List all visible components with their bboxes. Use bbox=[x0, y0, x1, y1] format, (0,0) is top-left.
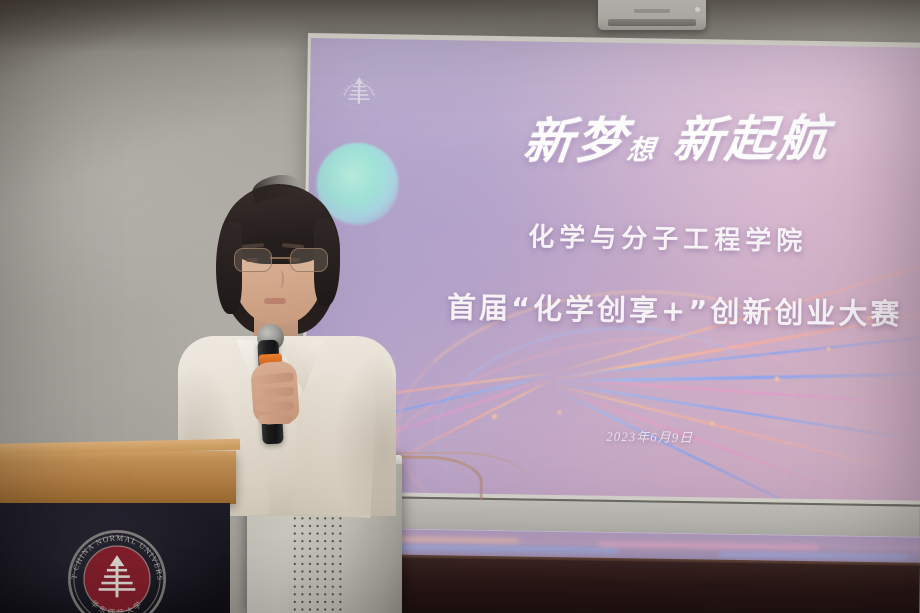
ac-vent bbox=[608, 19, 696, 26]
podium-wood-grain bbox=[0, 451, 236, 504]
finger-4 bbox=[258, 415, 292, 424]
eyeglasses-icon bbox=[234, 248, 326, 272]
lens-left bbox=[234, 248, 272, 272]
ac-brand-plate bbox=[634, 9, 670, 13]
nose bbox=[272, 270, 284, 288]
mouth bbox=[264, 298, 286, 304]
ac-indicator-light bbox=[695, 7, 700, 12]
lens-right bbox=[290, 248, 328, 272]
glasses-bridge bbox=[270, 257, 290, 259]
podium-top-surface bbox=[0, 451, 236, 504]
finger-3 bbox=[256, 401, 294, 411]
photo-scene: 新梦想 新起航 化学与分子工程学院 首届“化学创享+”创新创业大赛 2023年6… bbox=[0, 0, 920, 613]
air-conditioner-icon bbox=[598, 0, 706, 30]
ecnu-university-seal: EAST CHINA NORMAL UNIVERSITY 华东师范大学 bbox=[62, 524, 172, 613]
